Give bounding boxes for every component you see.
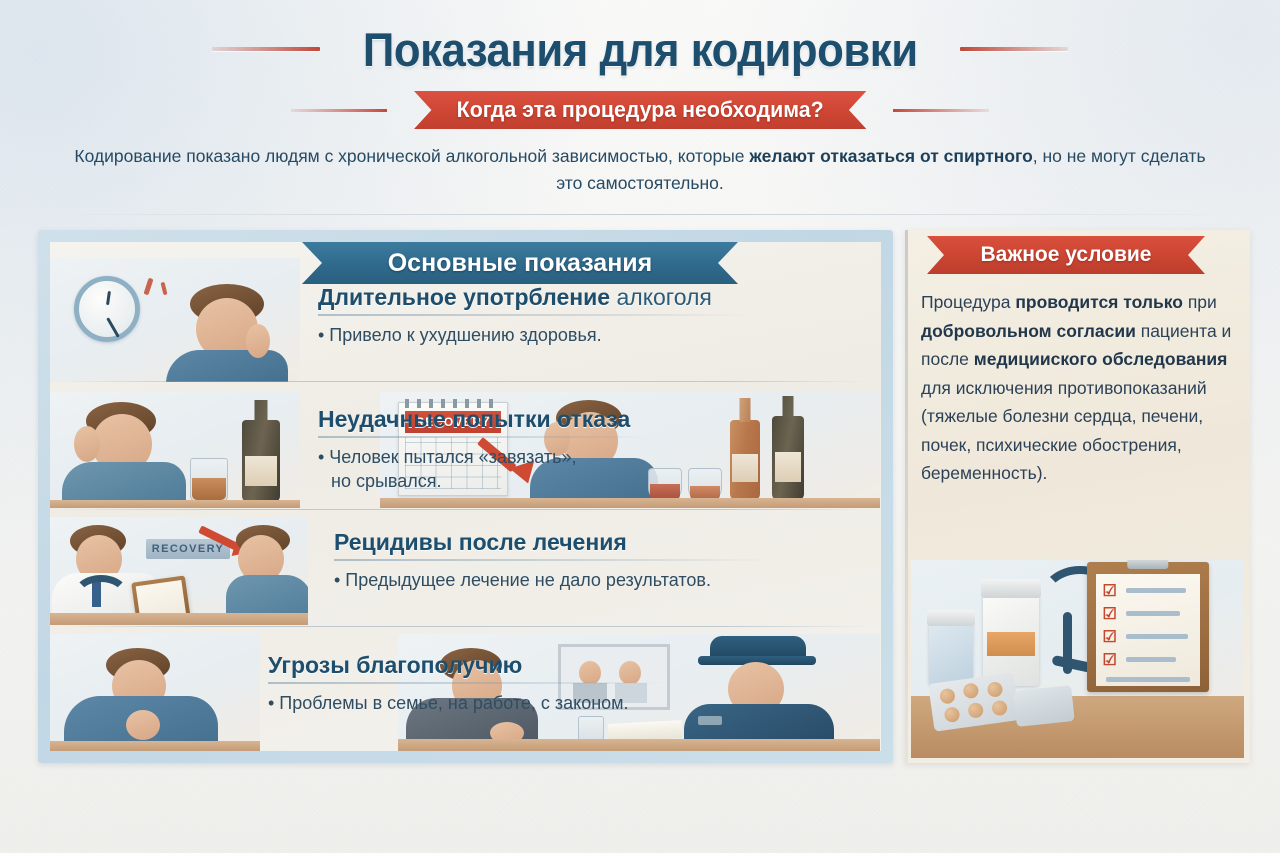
main-indications-inner: Основные показания <box>50 242 881 751</box>
title-row: Показания для кодировки <box>0 18 1280 80</box>
man-hand <box>246 324 270 358</box>
indication-1-underline <box>318 314 748 316</box>
indication-divider-1 <box>60 381 871 382</box>
header: Показания для кодировки Когда эта процед… <box>0 0 1280 215</box>
condition-segment-2: при <box>1183 292 1217 312</box>
man-shirt <box>166 350 288 382</box>
subtitle-ribbon: Когда эта процедура необходима? <box>414 91 866 129</box>
drink-glass <box>190 458 228 502</box>
man4-hands <box>126 710 160 740</box>
indication-3-heading-bold: Рецидивы после лечения <box>334 529 627 555</box>
indication-4-heading: Угрозы благополучию <box>268 652 668 679</box>
ribbon-rule-right <box>893 109 989 112</box>
indication-2-heading-bold: Неудачные попытки отказа <box>318 406 630 432</box>
condition-segment-1: проводится только <box>1015 292 1183 312</box>
illustration-medical-still-life: ☑ ☑ ☑ ☑ <box>911 560 1244 758</box>
pill-strip <box>1013 685 1074 727</box>
bottle-light <box>730 420 760 500</box>
indication-1-bullet: • Привело к ухудшению здоровья. <box>318 323 748 347</box>
condition-segment-3: добровольном согласии <box>921 321 1136 341</box>
indication-1-heading-bold: Длительное употрбление <box>318 284 610 310</box>
checkmark-4: ☑ <box>1103 653 1117 669</box>
intro-text-bold: желают отказаться от спиртного <box>749 146 1032 166</box>
clipboard-sheet: ☑ ☑ ☑ ☑ <box>1096 574 1201 686</box>
intro-text-1: Кодирование показано людям с хронической… <box>74 146 749 166</box>
page-title: Показания для кодировки <box>363 26 918 73</box>
bottle-dark <box>772 416 804 500</box>
condition-segment-6: для исключения противопоказаний (тяжелые… <box>921 378 1207 484</box>
indication-1-text: Длительное употрбление алкоголя • Привел… <box>318 284 748 347</box>
wine-glass-2 <box>688 468 722 502</box>
infographic-page: Показания для кодировки Когда эта процед… <box>0 0 1280 853</box>
man2-shirt <box>62 462 186 504</box>
indication-3-text: Рецидивы после лечения • Предыдущее лече… <box>334 529 774 592</box>
wine-glass-1 <box>648 468 682 502</box>
title-rule-left <box>212 47 320 51</box>
ribbon-rule-left <box>291 109 387 112</box>
indication-1-heading: Длительное употрбление алкоголя <box>318 284 748 311</box>
condition-segment-0: Процедура <box>921 292 1015 312</box>
title-rule-right <box>960 47 1068 51</box>
intro-paragraph: Кодирование показано людям с хронической… <box>60 143 1220 197</box>
checkmark-1: ☑ <box>1103 584 1117 600</box>
important-condition-text: Процедура проводится только при добровол… <box>921 288 1233 488</box>
panel-edge <box>905 230 908 763</box>
important-condition-banner: Важное условие <box>927 236 1205 274</box>
indication-4-underline <box>268 682 668 684</box>
indication-2-heading: Неудачные попытки отказа <box>318 406 648 433</box>
clipboard-clip <box>1127 560 1168 569</box>
illustration-tired-man-with-clock <box>50 258 300 382</box>
checklist-clipboard: ☑ ☑ ☑ ☑ <box>1087 562 1209 692</box>
pill-bottle-small <box>929 622 973 686</box>
indication-3-heading: Рецидивы после лечения <box>334 529 774 556</box>
checkmark-3: ☑ <box>1103 630 1117 646</box>
indication-2-bullet-line-1: • Человек пытался «завязать», <box>318 445 648 469</box>
condition-segment-5: медицииского обследования <box>974 349 1228 369</box>
indication-row-3: RECOVERY <box>50 517 881 627</box>
main-indications-panel: Основные показания <box>38 230 893 763</box>
illustration-man-alone <box>50 634 260 751</box>
indication-divider-2 <box>60 509 871 510</box>
indication-2-bullet-line-2: но срывался. <box>318 469 648 493</box>
illustration-man-with-bottle <box>50 392 300 508</box>
indication-4-bullet: • Проблемы в семье, на работе, с законом… <box>268 691 668 715</box>
header-divider <box>34 214 1246 215</box>
indication-4-heading-bold: Угрозы благополучию <box>268 652 522 678</box>
indication-row-2: RECOVERY <box>50 392 881 510</box>
indication-1-heading-rest: алкоголя <box>610 284 712 310</box>
body-area: Основные показания <box>0 222 1280 782</box>
indication-divider-3 <box>60 626 871 627</box>
indication-3-underline <box>334 559 774 561</box>
indication-4-text: Угрозы благополучию • Проблемы в семье, … <box>268 652 668 715</box>
alcohol-bottle <box>242 420 280 502</box>
subtitle-ribbon-row: Когда эта процедура необходима? <box>0 88 1280 132</box>
checkmark-2: ☑ <box>1103 607 1117 623</box>
main-indications-banner: Основные показания <box>302 242 738 284</box>
indication-3-bullet: • Предыдущее лечение не дало результатов… <box>334 568 774 592</box>
important-condition-panel: Важное условие Процедура проводится толь… <box>905 230 1250 763</box>
indication-2-bullet: • Человек пытался «завязать», но срывалс… <box>318 445 648 494</box>
illustration-doctor-and-patient: RECOVERY <box>50 517 308 625</box>
indication-2-underline <box>318 436 648 438</box>
indication-row-4: Угрозы благополучию • Проблемы в семье, … <box>50 634 881 751</box>
officer-badge <box>698 716 722 725</box>
man2-hand <box>74 426 100 462</box>
indication-2-text: Неудачные попытки отказа • Человек пытал… <box>318 406 648 494</box>
clock-icon <box>74 276 140 342</box>
